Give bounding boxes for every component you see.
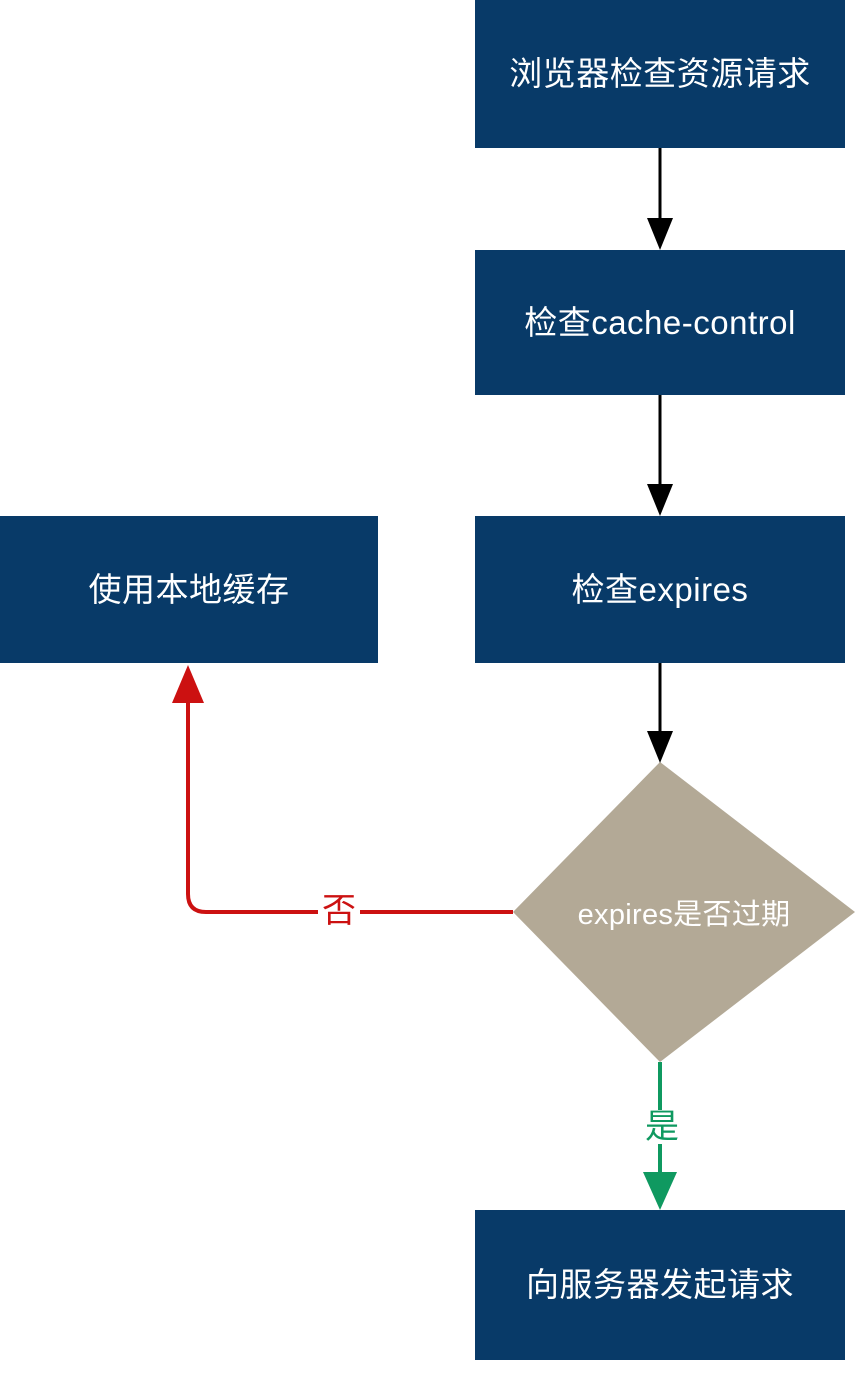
flowchart-connectors	[0, 0, 863, 1378]
decision-diamond-shape	[513, 762, 855, 1062]
edge-label-yes: 是	[641, 1110, 683, 1144]
edge-expires-to-decision	[647, 663, 673, 763]
node-check-expires-label: 检查expires	[572, 569, 749, 610]
edge-decision-to-use-local-cache	[172, 665, 513, 912]
node-check-request-label: 浏览器检查资源请求	[509, 53, 811, 94]
node-request-server[interactable]: 向服务器发起请求	[475, 1210, 845, 1360]
edge-label-no: 否	[318, 894, 360, 928]
node-request-server-label: 向服务器发起请求	[526, 1264, 794, 1305]
node-check-expires[interactable]: 检查expires	[475, 516, 845, 663]
edge-check-request-to-cache-control	[647, 148, 673, 250]
node-use-local-cache[interactable]: 使用本地缓存	[0, 516, 378, 663]
edge-cache-control-to-expires	[647, 395, 673, 516]
node-check-cache-control[interactable]: 检查cache-control	[475, 250, 845, 395]
node-use-local-cache-label: 使用本地缓存	[89, 569, 290, 610]
node-check-request[interactable]: 浏览器检查资源请求	[475, 0, 845, 148]
node-check-cache-control-label: 检查cache-control	[524, 302, 796, 343]
flowchart-canvas: 浏览器检查资源请求 检查cache-control 检查expires 使用本地…	[0, 0, 863, 1378]
